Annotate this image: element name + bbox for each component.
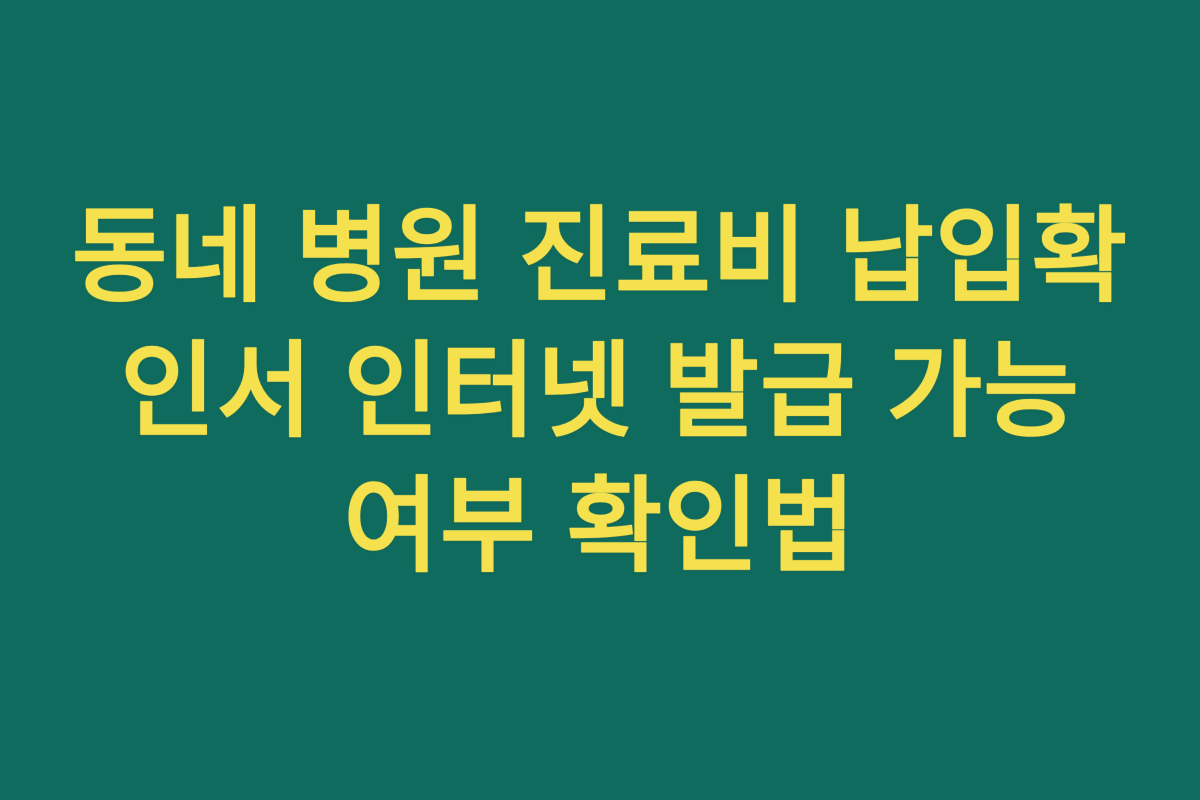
headline-line-2: 인서 인터넷 발급 가능: [40, 325, 1160, 460]
headline-line-1: 동네 병원 진료비 납입확: [40, 190, 1160, 325]
headline-block: 동네 병원 진료비 납입확 인서 인터넷 발급 가능 여부 확인법: [0, 190, 1200, 595]
headline-line-3: 여부 확인법: [40, 460, 1160, 595]
text-thumbnail-card: 동네 병원 진료비 납입확 인서 인터넷 발급 가능 여부 확인법: [0, 0, 1200, 800]
